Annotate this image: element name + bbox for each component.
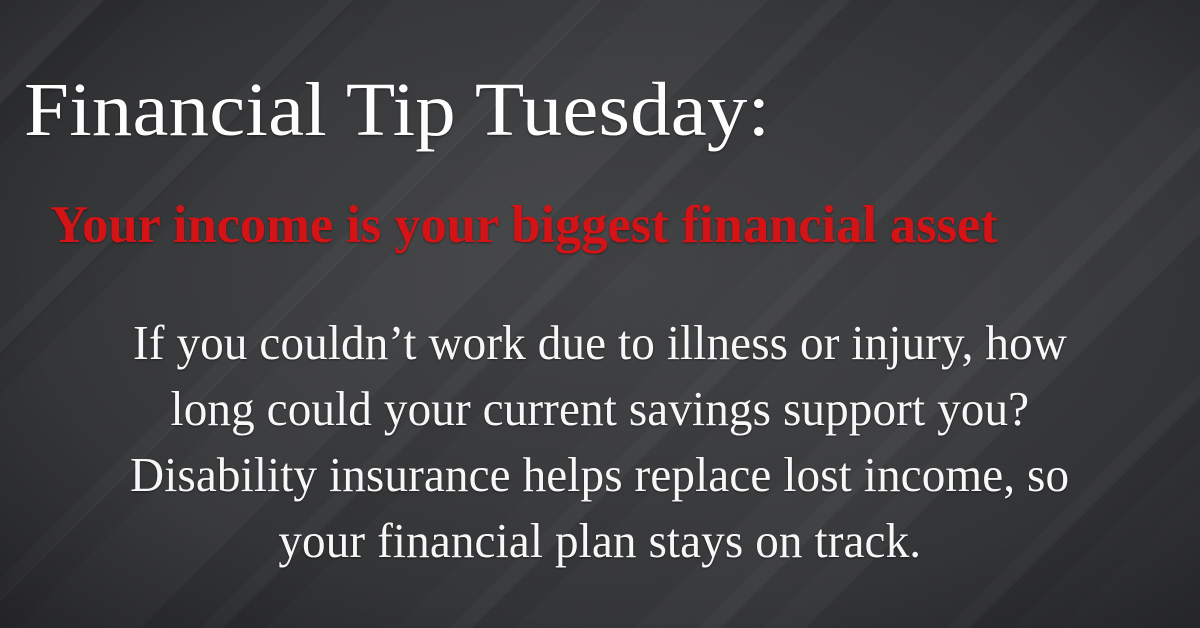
body-line: long could your current savings support …: [171, 376, 1030, 442]
body-line: your financial plan stays on track.: [279, 508, 922, 574]
page-title: Financial Tip Tuesday:: [24, 72, 770, 148]
body-copy: If you couldn’t work due to illness or i…: [60, 310, 1140, 574]
financial-tip-graphic: Financial Tip Tuesday: Your income is yo…: [0, 0, 1200, 628]
body-line: Disability insurance helps replace lost …: [130, 442, 1069, 508]
subheadline-accent: Your income is your biggest financial as…: [50, 197, 1153, 254]
body-line: If you couldn’t work due to illness or i…: [133, 310, 1067, 376]
card-content: Financial Tip Tuesday: Your income is yo…: [0, 0, 1200, 628]
